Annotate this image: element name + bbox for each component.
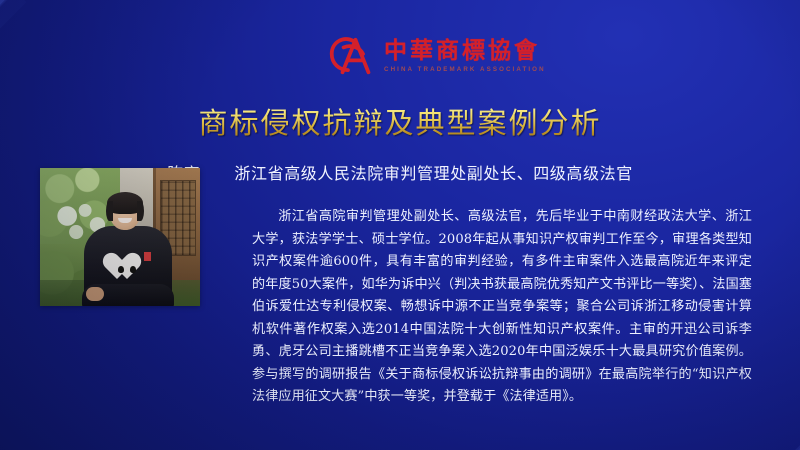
logo-english-name: CHINA TRADEMARK ASSOCIATION <box>384 66 546 73</box>
logo-wordmark: 中華商標協會 CHINA TRADEMARK ASSOCIATION <box>384 39 546 73</box>
slide-title: 商标侵权抗辩及典型案例分析 <box>0 106 800 141</box>
speaker-biography: 浙江省高院审判管理处副处长、高级法官，先后毕业于中南财经政法大学、浙江大学，获法… <box>252 206 752 409</box>
speaker-portrait-photo <box>40 168 200 306</box>
photo-tone-overlay <box>40 168 200 306</box>
photo-tshirt-heart-eyes <box>118 266 136 273</box>
organization-logo: 中華商標協會 CHINA TRADEMARK ASSOCIATION <box>322 28 546 82</box>
ca-monogram-icon <box>322 28 376 82</box>
presentation-slide: 中華商標協會 CHINA TRADEMARK ASSOCIATION 商标侵权抗… <box>0 0 800 450</box>
decorative-diagonal-band-left-1 <box>0 0 129 173</box>
logo-chinese-name: 中華商標協會 <box>384 39 546 63</box>
speaker-title: 浙江省高级人民法院审判管理处副处长、四级高级法官 <box>234 164 632 183</box>
